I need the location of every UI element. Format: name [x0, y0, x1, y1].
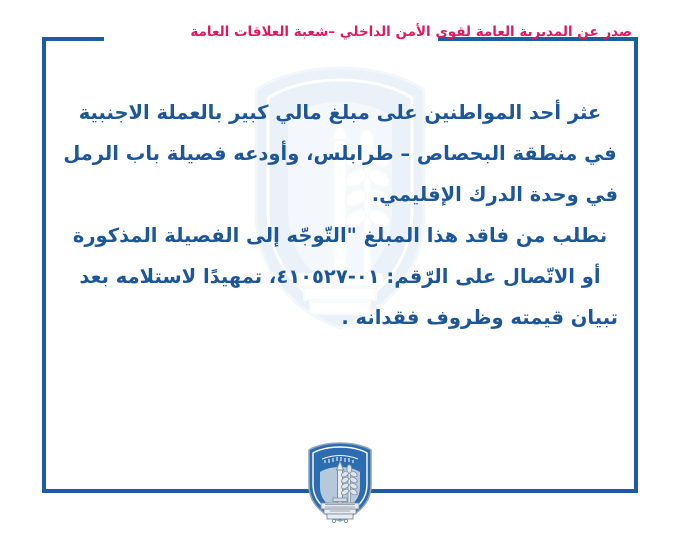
isf-emblem-icon [303, 441, 377, 529]
announcement-body: عثر أحد المواطنين على مبلغ مالي كبير بال… [56, 92, 624, 338]
body-line-5: أو الاتّصال على الرّقم: ٠١-٤١٠٥٢٧، تمهيد… [56, 256, 624, 297]
body-line-4: نطلب من فاقد هذا المبلغ "التّوجّه إلى ال… [56, 215, 624, 256]
body-line-3: في وحدة الدرك الإقليمي. [56, 174, 624, 215]
frame-border-right [634, 37, 638, 493]
source-header-text: صدر عن المديرية العامة لقوى الأمن الداخل… [110, 24, 632, 40]
body-line-6: تبيان قيمته وظروف فقدانه . [56, 297, 624, 338]
body-line-1: عثر أحد المواطنين على مبلغ مالي كبير بال… [56, 92, 624, 133]
frame-border-top-left [42, 37, 104, 41]
body-line-2: في منطقة البحصاص – طرابلس، وأودعه فصيلة … [56, 133, 624, 174]
announcement-poster: صدر عن المديرية العامة لقوى الأمن الداخل… [0, 0, 680, 531]
frame-border-left [42, 37, 46, 493]
